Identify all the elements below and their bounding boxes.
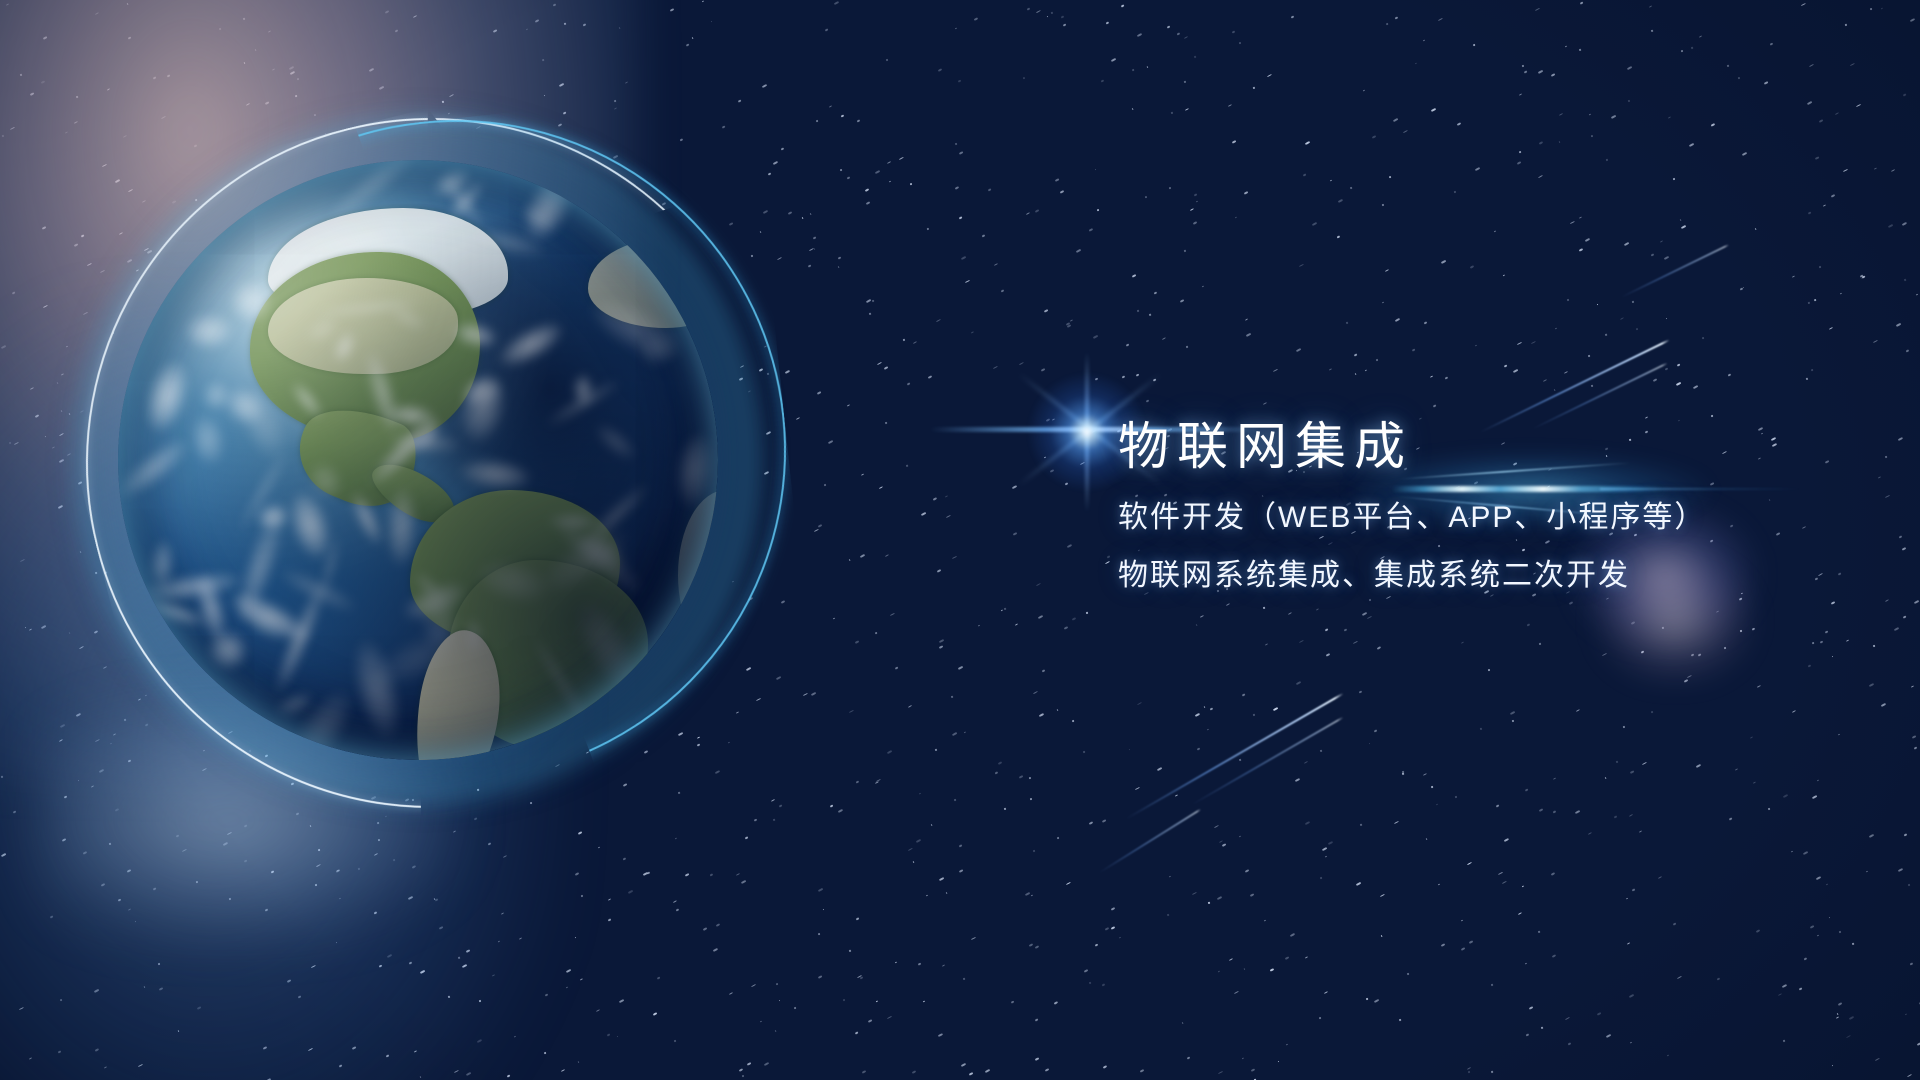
meteor-streak-5: [1099, 808, 1202, 873]
banner-text-block: 物联网集成 软件开发（WEB平台、APP、小程序等） 物联网系统集成、集成系统二…: [1118, 418, 1818, 594]
globe-limb-glow: [118, 160, 718, 760]
page-title: 物联网集成: [1118, 418, 1818, 475]
banner-stage: 物联网集成 软件开发（WEB平台、APP、小程序等） 物联网系统集成、集成系统二…: [0, 0, 1920, 1080]
globe-sphere: [118, 160, 718, 760]
earth-globe: [118, 160, 718, 760]
subtitle-line-1: 软件开发（WEB平台、APP、小程序等）: [1118, 499, 1818, 537]
subtitle-line-2: 物联网系统集成、集成系统二次开发: [1118, 557, 1818, 595]
meteor-streak-6: [1621, 244, 1730, 298]
meteor-streak-4: [1191, 716, 1344, 805]
meteor-streak-3: [1126, 693, 1344, 820]
